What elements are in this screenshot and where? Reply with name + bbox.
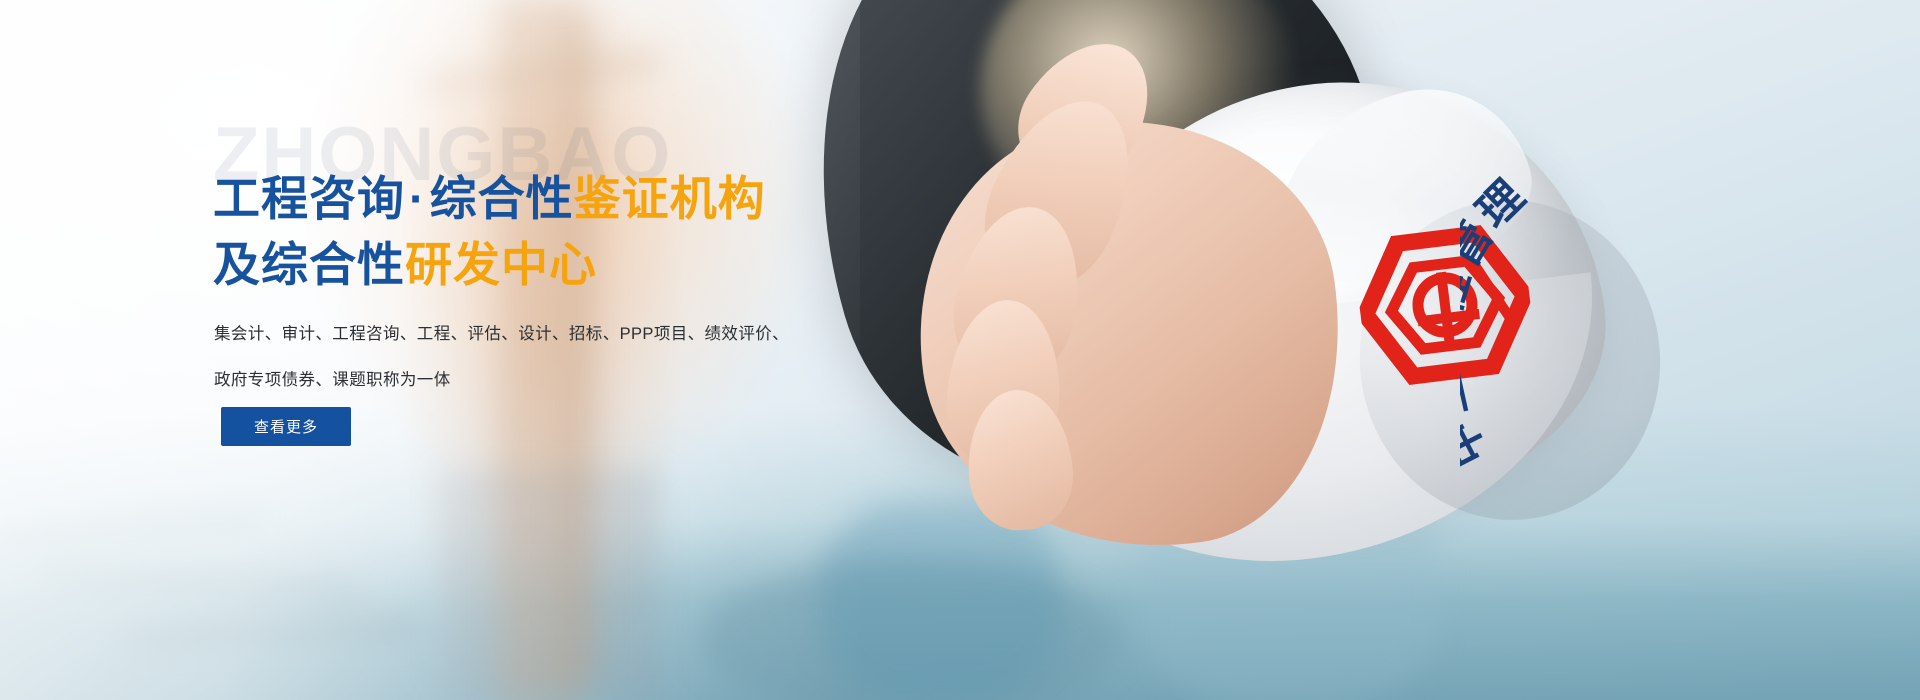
hero-headline: 工程咨询·综合性鉴证机构 及综合性研发中心 (213, 166, 766, 298)
company-hexagon-logo-icon (1351, 220, 1538, 390)
hero-banner: 中宝工程管理 ZHONGBAO 工程咨询·综合性鉴证机构 及综合性研发中心 集会… (0, 0, 1920, 700)
hero-description: 集会计、审计、工程咨询、工程、评估、设计、招标、PPP项目、绩效评价、 政府专项… (214, 311, 814, 403)
headline-line1-blue-part-2: 综合性 (430, 172, 574, 225)
headline-line2-blue-part: 及综合性 (213, 238, 405, 291)
headline-line1-blue-part: 工程咨询 (213, 172, 405, 225)
description-line-2: 政府专项债券、课题职称为一体 (214, 357, 814, 403)
headline-line-1: 工程咨询·综合性鉴证机构 (213, 166, 766, 232)
description-line-1: 集会计、审计、工程咨询、工程、评估、设计、招标、PPP项目、绩效评价、 (214, 311, 814, 357)
headline-line-2: 及综合性研发中心 (213, 232, 766, 298)
headline-line1-orange-part: 鉴证机构 (574, 172, 766, 225)
hand-holding-helmet-photo (800, 0, 1920, 700)
headline-separator-dot: · (405, 172, 430, 225)
view-more-button[interactable]: 查看更多 (221, 407, 351, 446)
headline-line2-orange-part: 研发中心 (405, 238, 597, 291)
hero-content: ZHONGBAO 工程咨询·综合性鉴证机构 及综合性研发中心 集会计、审计、工程… (0, 0, 900, 700)
